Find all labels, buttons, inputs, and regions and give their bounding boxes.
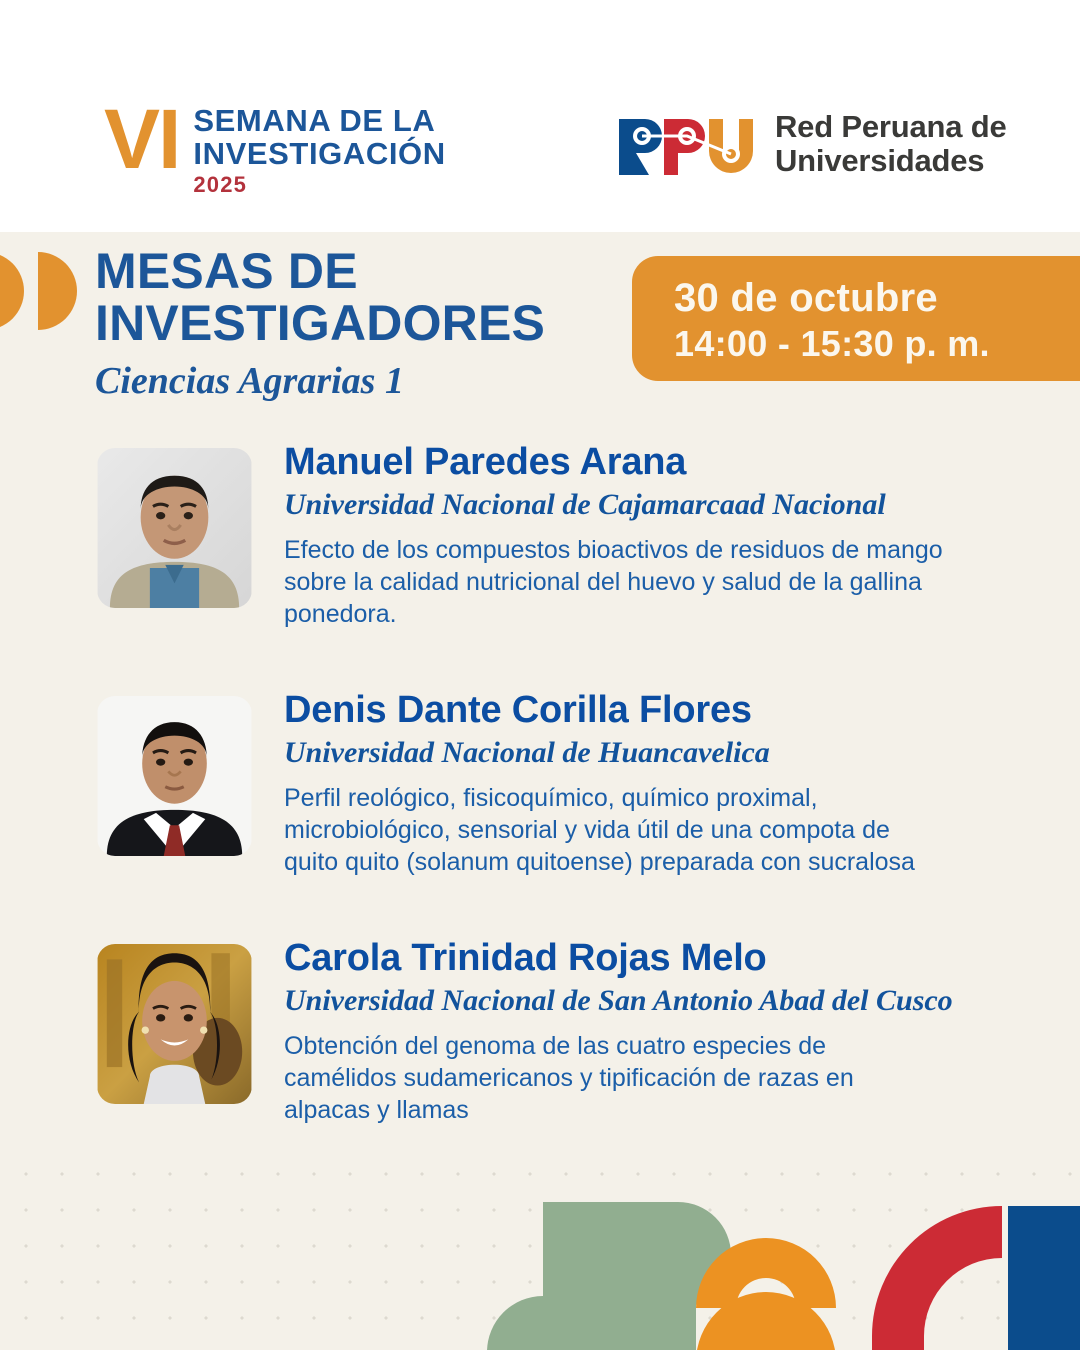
- event-logo-text: SEMANA DE LA INVESTIGACIÓN 2025: [193, 98, 445, 198]
- poster-canvas: VI SEMANA DE LA INVESTIGACIÓN 2025: [0, 0, 1080, 1350]
- rpu-mark-icon: [617, 113, 759, 175]
- red-quarter-arc: [872, 1206, 1002, 1350]
- event-logo-line2: INVESTIGACIÓN: [193, 137, 445, 170]
- badge-time: 14:00 - 15:30 p. m.: [674, 322, 1080, 366]
- speakers-list: Manuel Paredes Arana Universidad Naciona…: [0, 440, 1080, 1184]
- badge-date: 30 de octubre: [674, 274, 1080, 322]
- green-pill-bottom: [487, 1296, 696, 1350]
- portrait-man-beige-sweater-icon: [97, 448, 252, 608]
- date-time-badge: 30 de octubre 14:00 - 15:30 p. m.: [632, 256, 1080, 381]
- page-title-line1: MESAS DE: [95, 245, 615, 297]
- partner-logo: Red Peruana de Universidades: [617, 110, 1007, 178]
- speaker-photo: [97, 696, 252, 856]
- partner-logo-line2: Universidades: [775, 144, 1007, 178]
- partner-logo-text: Red Peruana de Universidades: [775, 110, 1007, 178]
- portrait-woman-dark-hair-golden-background-icon: [97, 944, 252, 1104]
- speaker-university: Universidad Nacional de San Antonio Abad…: [284, 982, 984, 1020]
- speaker-item: Manuel Paredes Arana Universidad Naciona…: [0, 440, 1080, 630]
- half-circle-2: [38, 252, 77, 330]
- speaker-photo: [97, 448, 252, 608]
- event-logo: VI SEMANA DE LA INVESTIGACIÓN 2025: [104, 98, 446, 198]
- speaker-photo: [97, 944, 252, 1104]
- speaker-text: Manuel Paredes Arana Universidad Naciona…: [284, 440, 984, 630]
- speaker-university: Universidad Nacional de Cajamarcaad Naci…: [284, 486, 984, 524]
- speaker-item: Carola Trinidad Rojas Melo Universidad N…: [0, 936, 1080, 1126]
- event-logo-roman-numeral: VI: [104, 98, 179, 180]
- speaker-topic: Obtención del genoma de las cuatro espec…: [284, 1030, 944, 1126]
- blue-rectangle: [1008, 1206, 1080, 1350]
- half-circle-1: [0, 252, 24, 330]
- title-block: MESAS DE INVESTIGADORES Ciencias Agraria…: [95, 245, 615, 403]
- partner-logo-line1: Red Peruana de: [775, 110, 1007, 144]
- event-logo-year: 2025: [193, 172, 445, 198]
- header: VI SEMANA DE LA INVESTIGACIÓN 2025: [0, 0, 1080, 232]
- speaker-text: Carola Trinidad Rojas Melo Universidad N…: [284, 936, 984, 1126]
- page-title-line2: INVESTIGADORES: [95, 297, 615, 349]
- speaker-topic: Perfil reológico, fisicoquímico, químico…: [284, 782, 944, 878]
- speaker-text: Denis Dante Corilla Flores Universidad N…: [284, 688, 984, 878]
- speaker-item: Denis Dante Corilla Flores Universidad N…: [0, 688, 1080, 878]
- page-subtitle: Ciencias Agrarias 1: [95, 359, 615, 403]
- speaker-topic: Efecto de los compuestos bioactivos de r…: [284, 534, 944, 630]
- orange-half-circles-decoration: [0, 252, 86, 330]
- speaker-name: Manuel Paredes Arana: [284, 440, 984, 484]
- portrait-man-black-suit-red-tie-icon: [97, 696, 252, 856]
- event-logo-line1: SEMANA DE LA: [193, 104, 445, 137]
- bottom-shapes-graphic: [0, 1180, 1080, 1350]
- speaker-university: Universidad Nacional de Huancavelica: [284, 734, 984, 772]
- speaker-name: Carola Trinidad Rojas Melo: [284, 936, 984, 980]
- speaker-name: Denis Dante Corilla Flores: [284, 688, 984, 732]
- bottom-decoration: [0, 1180, 1080, 1350]
